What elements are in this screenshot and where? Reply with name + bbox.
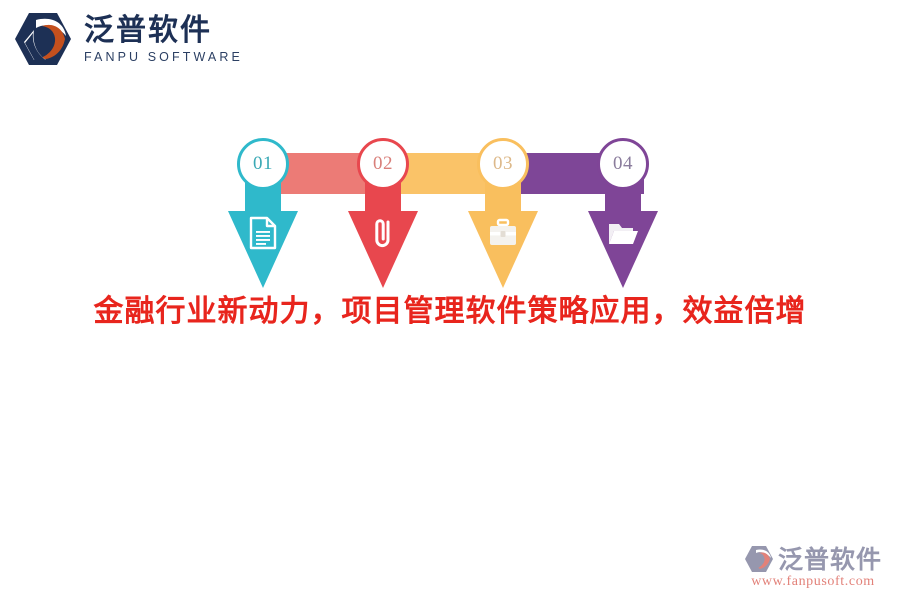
step-number-circle-04: 04 [597, 138, 649, 190]
step-number-label-02: 02 [373, 153, 393, 175]
watermark-row: 泛普软件 [744, 545, 882, 573]
step-number-label-03: 03 [493, 153, 513, 175]
process-step-03[interactable]: 03 [468, 138, 538, 288]
brand-name-en: FANPU SOFTWARE [84, 50, 243, 65]
step-number-label-04: 04 [613, 153, 633, 175]
process-step-01[interactable]: 01 [228, 138, 298, 288]
fanpu-hexagon-logo-icon [12, 10, 74, 68]
step-number-label-01: 01 [253, 153, 273, 175]
watermark-name-cn: 泛普软件 [778, 547, 882, 572]
process-step-02[interactable]: 02 [348, 138, 418, 288]
brand-wordmark: 泛普软件 FANPU SOFTWARE [84, 13, 243, 65]
step-number-circle-01: 01 [237, 138, 289, 190]
page-headline: 金融行业新动力，项目管理软件策略应用，效益倍增 [0, 286, 900, 330]
process-step-04[interactable]: 04 [588, 138, 658, 288]
step-number-circle-03: 03 [477, 138, 529, 190]
watermark-url: www.fanpusoft.com [751, 574, 875, 590]
step-number-circle-02: 02 [357, 138, 409, 190]
watermark: 泛普软件 www.fanpusoft.com [744, 545, 882, 590]
brand-name-cn: 泛普软件 [84, 15, 243, 47]
process-infographic: 01 02 03 [228, 138, 672, 288]
brand-logo: 泛普软件 FANPU SOFTWARE [12, 10, 243, 68]
fanpu-hexagon-logo-icon [744, 545, 774, 573]
